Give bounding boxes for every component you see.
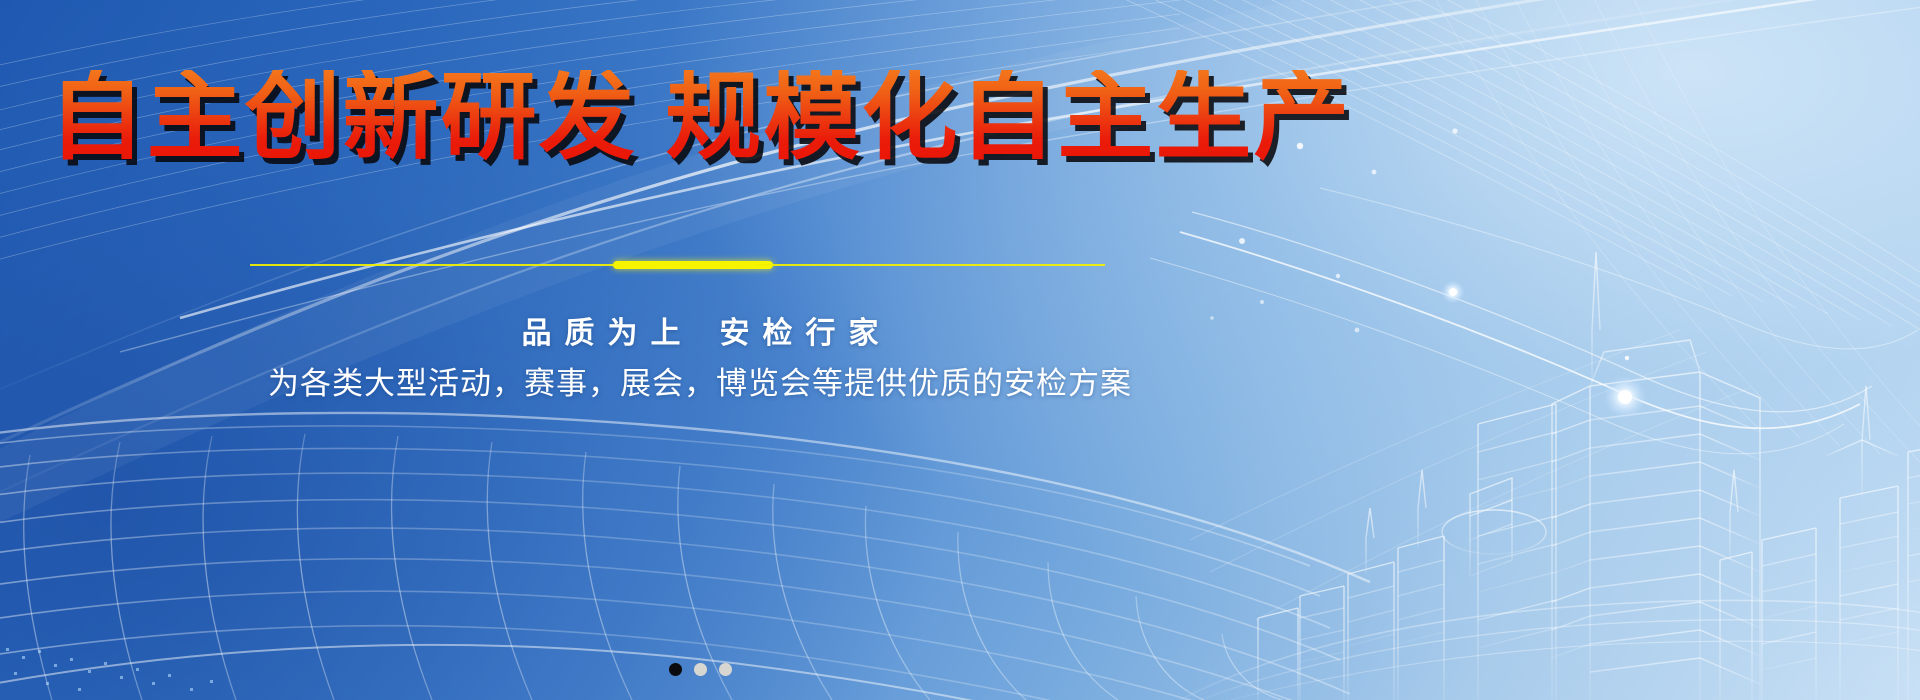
- carousel-dot-3[interactable]: [719, 663, 732, 676]
- banner-description: 为各类大型活动，赛事，展会，博览会等提供优质的安检方案: [0, 358, 1400, 403]
- carousel-dots[interactable]: [0, 663, 1400, 676]
- subtitle-segment-quality: 品质为上: [522, 317, 694, 350]
- divider-line-left: [250, 264, 645, 266]
- divider-bar-center: [613, 261, 773, 269]
- banner-headline: 自主创新研发 规模化自主生产: [0, 70, 1400, 166]
- hero-banner: 自主创新研发 规模化自主生产 品质为上安检行家 为各类大型活动，赛事，展会，博览…: [0, 0, 1920, 700]
- subtitle-segment-expert: 安检行家: [720, 317, 892, 350]
- carousel-dot-2[interactable]: [694, 663, 707, 676]
- banner-subtitle: 品质为上安检行家: [0, 308, 1400, 352]
- divider-line-right: [755, 264, 1105, 266]
- decorative-divider: [0, 258, 1400, 272]
- banner-content: 自主创新研发 规模化自主生产 品质为上安检行家 为各类大型活动，赛事，展会，博览…: [0, 0, 1400, 700]
- carousel-dot-1[interactable]: [669, 663, 682, 676]
